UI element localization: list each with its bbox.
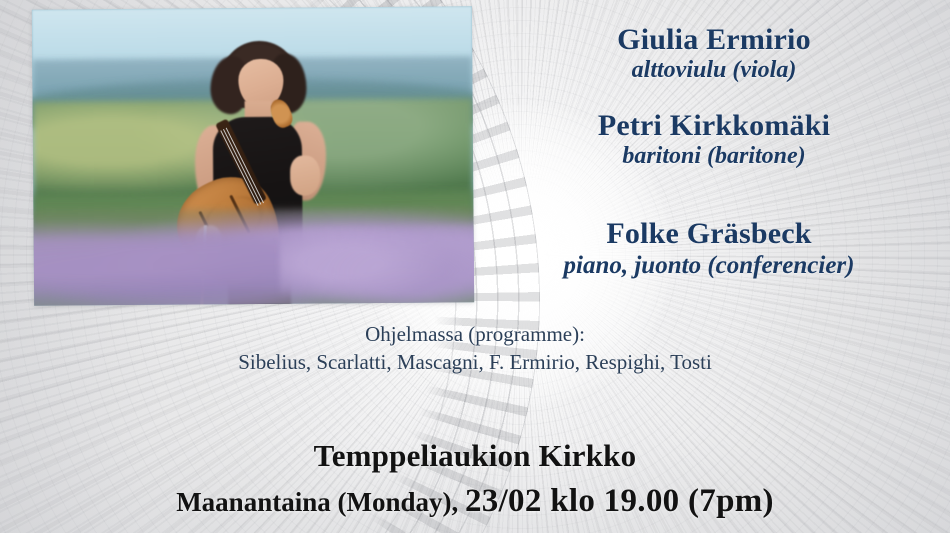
performer-block-3: Folke Gräsbeck piano, juonto (conferenci… [478, 218, 940, 279]
performer-block-2: Petri Kirkkomäki baritoni (baritone) [488, 110, 940, 170]
event-datetime: Maanantaina (Monday), 23/02 klo 19.00 (7… [40, 483, 910, 520]
event-time: 23/02 klo 19.00 (7pm) [465, 483, 774, 519]
concert-poster: Giulia Ermirio alttoviulu (viola) Petri … [0, 0, 950, 533]
performer-name: Giulia Ermirio [488, 24, 940, 55]
photo-scene [32, 6, 474, 305]
performer-name: Petri Kirkkomäki [488, 110, 940, 141]
programme-block: Ohjelmassa (programme): Sibelius, Scarla… [60, 320, 890, 377]
performer-role: baritoni (baritone) [488, 144, 940, 170]
performer-name: Folke Gräsbeck [478, 218, 940, 249]
event-day: Maanantaina (Monday), [176, 487, 465, 517]
performer-block-1: Giulia Ermirio alttoviulu (viola) [488, 24, 940, 84]
programme-composers: Sibelius, Scarlatti, Mascagni, F. Ermiri… [60, 348, 890, 376]
performer-role: piano, juonto (conferencier) [478, 252, 940, 279]
performer-role: alttoviulu (viola) [488, 58, 940, 84]
photo-lavender-right [280, 225, 474, 305]
programme-heading: Ohjelmassa (programme): [60, 320, 890, 348]
performer-photo [32, 6, 474, 305]
venue-name: Temppeliaukion Kirkko [60, 438, 890, 474]
